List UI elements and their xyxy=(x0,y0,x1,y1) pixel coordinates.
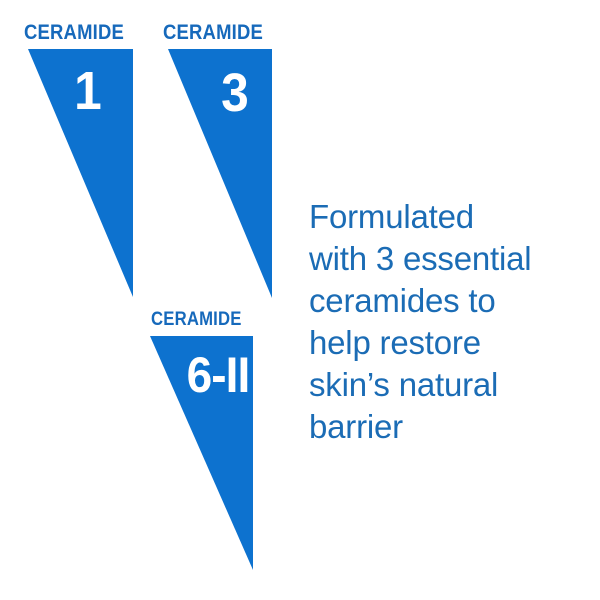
ceramide-number-6-ii: 6-II xyxy=(168,350,267,400)
copy-line: skin’s natural xyxy=(309,364,589,406)
ceramide-number-1: 1 xyxy=(58,64,119,118)
copy-line: with 3 essential xyxy=(309,238,589,280)
ceramide-number-3: 3 xyxy=(205,66,266,120)
ceramide-badge-1: CERAMIDE 1 xyxy=(0,0,160,310)
ceramide-badge-3: CERAMIDE 3 xyxy=(140,0,300,310)
wedge-triangle-icon xyxy=(140,0,300,310)
wedge-triangle-icon xyxy=(130,300,310,590)
copy-line: Formulated xyxy=(309,196,589,238)
ceramide-badge-6-ii: CERAMIDE 6-II xyxy=(130,300,310,590)
copy-line: help restore xyxy=(309,322,589,364)
product-benefit-graphic: CERAMIDE 1 CERAMIDE 3 CERAMIDE 6-II Form… xyxy=(0,0,600,600)
benefit-copy: Formulated with 3 essential ceramides to… xyxy=(309,196,589,448)
copy-line: barrier xyxy=(309,406,589,448)
copy-line: ceramides to xyxy=(309,280,589,322)
wedge-triangle-icon xyxy=(0,0,160,310)
